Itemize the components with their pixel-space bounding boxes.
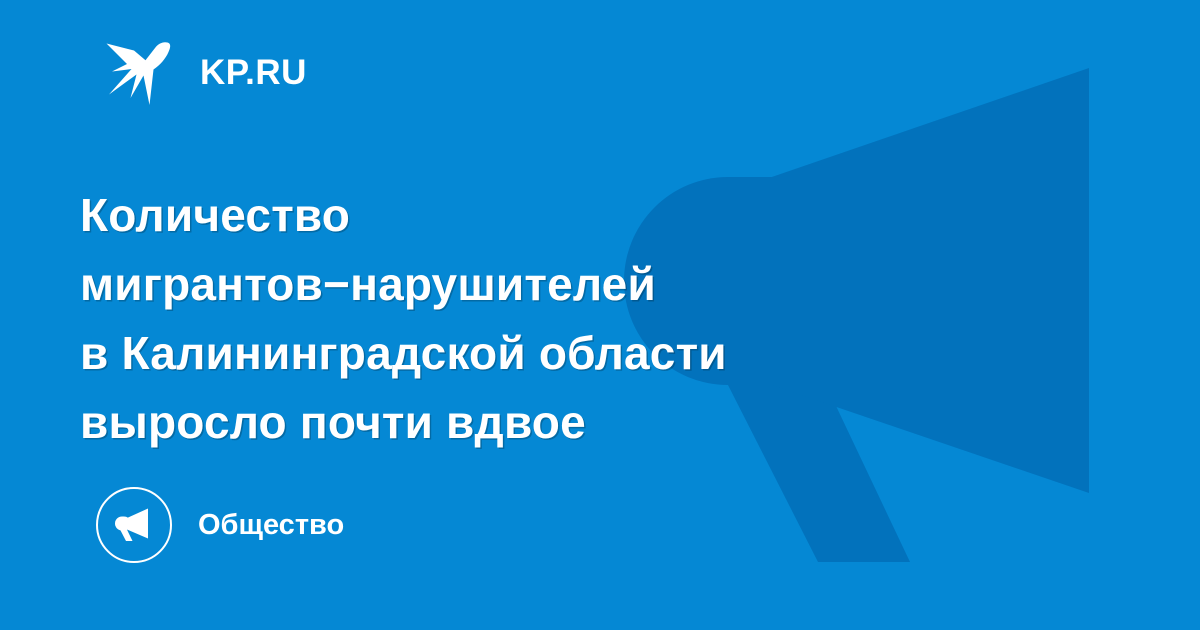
- news-share-card: KP.RU Количество мигрантов−нарушителей в…: [0, 0, 1200, 630]
- headline-line-4: выросло почти вдвое: [80, 388, 960, 457]
- brand-logo[interactable]: KP.RU: [104, 36, 307, 108]
- category-badge[interactable]: Общество: [96, 485, 344, 565]
- category-label: Общество: [198, 511, 344, 540]
- megaphone-icon: [113, 505, 155, 545]
- headline-line-1: Количество: [80, 181, 960, 250]
- brand-name: KP.RU: [200, 55, 307, 90]
- headline-line-3: в Калининградской области: [80, 319, 960, 388]
- page-title: Количество мигрантов−нарушителей в Калин…: [80, 181, 960, 457]
- headline-line-2: мигрантов−нарушителей: [80, 250, 960, 319]
- category-icon-ring: [96, 487, 172, 563]
- swallow-bird-icon: [104, 36, 182, 108]
